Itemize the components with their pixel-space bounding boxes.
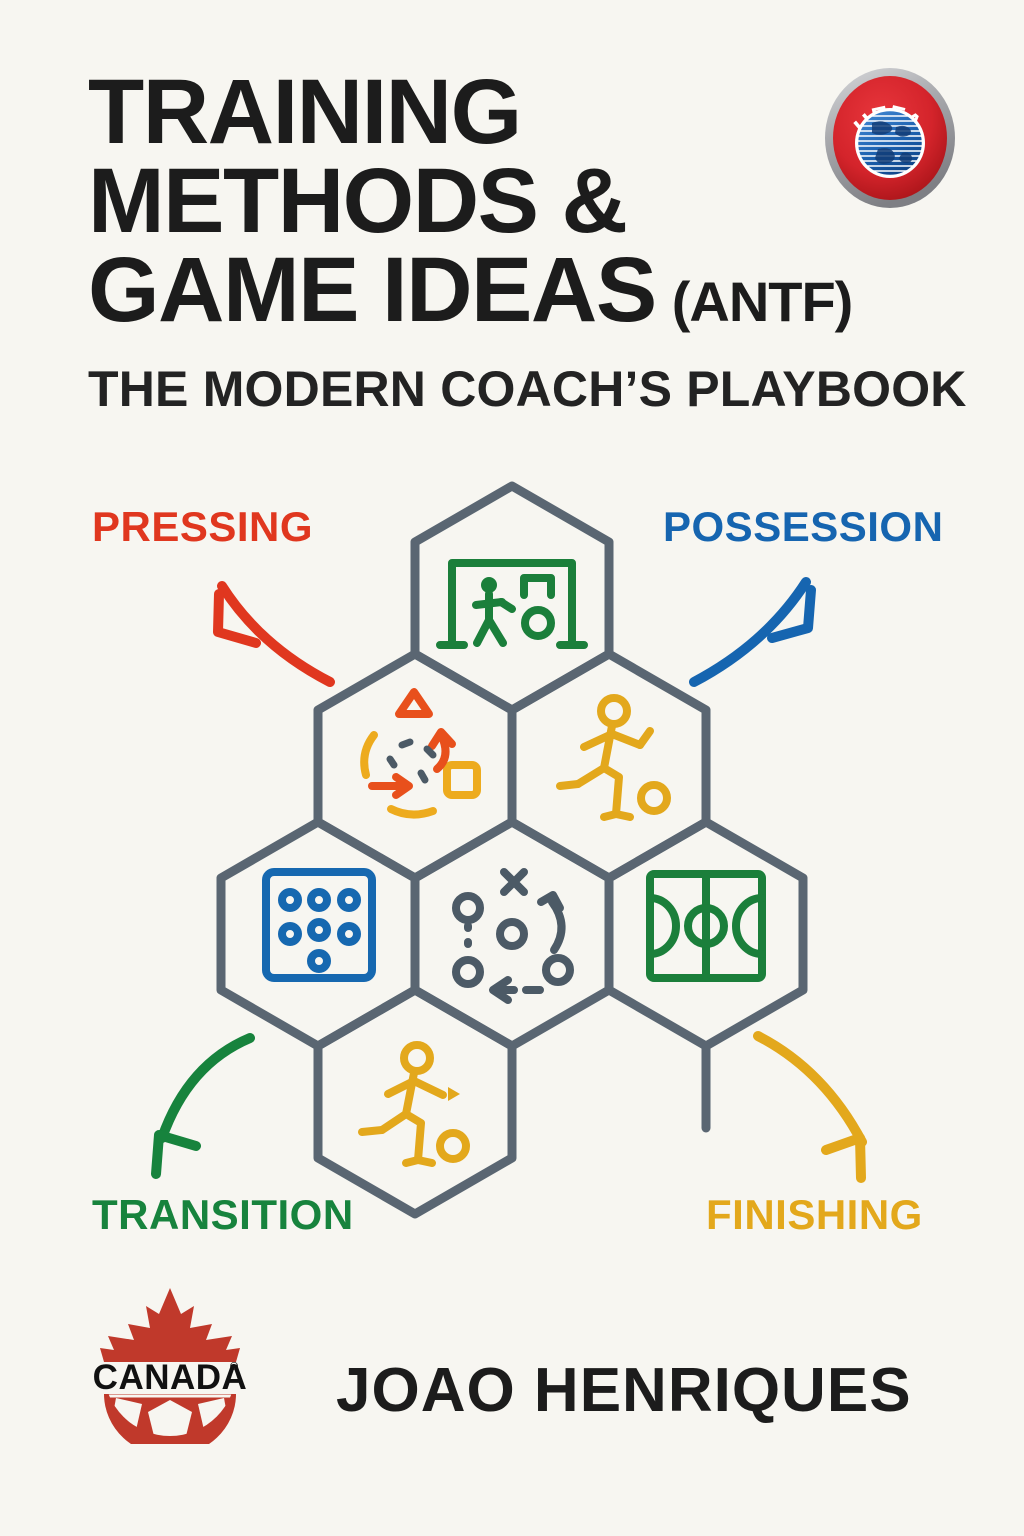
maple-leaf-icon xyxy=(100,1288,240,1362)
player-dribbling-icon xyxy=(362,1045,466,1163)
possession-arrow xyxy=(694,582,811,682)
hex-tactics-board[interactable] xyxy=(415,822,609,1046)
pillars-diagram xyxy=(0,468,1024,1258)
page-subtitle: THE MODERN COACH’S PLAYBOOK xyxy=(88,360,968,418)
svg-text:CANADA: CANADA xyxy=(93,1358,248,1397)
diagram-label-transition[interactable]: TRANSITION xyxy=(92,1191,354,1239)
canada-soccer-badge: CANADA ® xyxy=(86,1284,254,1444)
diagram-label-finishing[interactable]: FINISHING xyxy=(706,1191,923,1239)
hex-running-player[interactable] xyxy=(512,654,706,878)
finishing-arrow xyxy=(758,1036,862,1178)
canada-wordmark: CANADA ® xyxy=(93,1358,248,1397)
diagram-label-possession[interactable]: POSSESSION xyxy=(663,503,943,551)
uefa-badge: UEFA xyxy=(820,65,960,213)
soccer-ball-half-icon xyxy=(104,1394,236,1444)
rondo-grid-players-icon xyxy=(266,872,372,978)
player-running-with-ball-icon xyxy=(560,698,667,817)
football-pitch-icon xyxy=(650,874,762,978)
tactical-shapes-rotation-icon xyxy=(364,692,477,815)
hex-drill-shapes[interactable] xyxy=(318,654,512,878)
pressing-arrow xyxy=(218,586,330,682)
hex-grid xyxy=(221,486,803,1214)
title-line-3: GAME IDEAS xyxy=(88,246,656,335)
author-name: JOAO HENRIQUES xyxy=(336,1355,912,1426)
title-line-3-row: GAME IDEAS (ANTF) xyxy=(88,246,968,335)
diagram-label-pressing[interactable]: PRESSING xyxy=(92,503,313,551)
title-acronym: (ANTF) xyxy=(672,269,853,334)
tactics-board-movement-icon xyxy=(456,872,570,1000)
player-shooting-at-goal-icon xyxy=(440,563,584,645)
book-cover: TRAINING METHODS & GAME IDEAS (ANTF) THE… xyxy=(0,0,1024,1536)
svg-text:®: ® xyxy=(230,1361,238,1373)
hex-goal-scoring[interactable] xyxy=(415,486,609,710)
transition-arrow xyxy=(156,1038,250,1174)
hex-dribbling[interactable] xyxy=(318,990,512,1214)
